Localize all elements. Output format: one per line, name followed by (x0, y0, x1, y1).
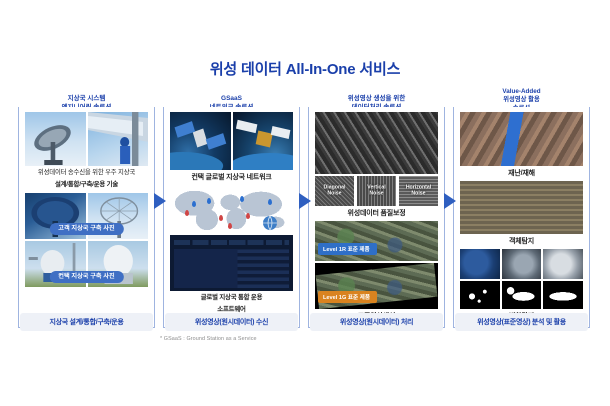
map-pin-3 (207, 198, 211, 204)
panel-2: 컨택 글로벌 지상국 네트워크 (163, 107, 300, 328)
noise-sample-diagonal: Diagonal Noise (315, 176, 354, 206)
columns-container: 지상국 시스템 엔지니어링 솔루션 (14, 88, 596, 328)
noise-label-horizontal-line2: Noise (411, 191, 425, 197)
noise-sample-vertical: Vertical Noise (357, 176, 396, 206)
caption-1-line1: 위성데이터 송수신을 위한 우주 지상국 (25, 168, 148, 178)
image-row-dishes-top (25, 112, 148, 166)
right-arrow-icon (153, 192, 167, 210)
map-pin-8 (228, 223, 232, 229)
bottom-label-wrap-1: 지상국 설계/통합/구축/운용 (14, 312, 159, 332)
map-pin-7 (268, 199, 272, 205)
photo-change-before-3 (543, 249, 583, 279)
column-value-added: Value-Added 위성영상 활용 솔루션 재난/재해 객체탐지 (449, 88, 594, 328)
bottom-labels-row: 지상국 설계/통합/구축/운용 위성영상(원시데이터) 수신 위성영상(원시데이… (14, 312, 596, 332)
bottom-label-wrap-4: 위성영상(표준영상) 분석 및 활용 (449, 312, 594, 332)
caption-2-network: 컨택 글로벌 지상국 네트워크 (170, 172, 293, 183)
photo-satellite-1 (170, 112, 231, 170)
right-arrow-icon (298, 192, 312, 210)
column-header-2-line1: GSaaS (159, 95, 304, 104)
caption-2-software-line1: 글로벌 지상국 통합 운용 (170, 293, 293, 303)
infographic-page: 위성 데이터 All-In-One 서비스 지상국 시스템 엔지니어링 솔루션 (0, 0, 610, 406)
photo-flood-disaster (460, 112, 583, 166)
photo-change-mask-3 (543, 281, 583, 309)
photo-world-map (170, 185, 293, 233)
satellite-gold-icon (233, 112, 294, 170)
bottom-label-2: 위성영상(원시데이터) 수신 (165, 313, 298, 331)
column-header-4-line1: Value-Added (449, 88, 594, 97)
caption-4-object-detection: 객체탐지 (460, 236, 583, 247)
column-ground-station-engineering: 지상국 시스템 엔지니어링 솔루션 (14, 88, 159, 328)
photo-change-mask-1 (460, 281, 500, 309)
overlay-label-customer-station: 고객 지상국 구축 사진 (49, 223, 123, 235)
noise-samples-row: Diagonal Noise Vertical Noise (315, 176, 438, 206)
map-pin-2 (185, 210, 189, 216)
column-gsaas-network: GSaaS 네트워크 솔루션 (159, 88, 304, 328)
bottom-label-1: 지상국 설계/통합/구축/운용 (20, 313, 153, 331)
satellite-icon (170, 112, 231, 170)
photo-change-before-2 (502, 249, 542, 279)
noise-label-diagonal-line2: Noise (327, 191, 341, 197)
image-row-customer-stations: 고객 지상국 구축 사진 (25, 193, 148, 239)
panel-4: 재난/재해 객체탐지 변화탐지 (453, 107, 590, 328)
dish-antenna-icon (25, 112, 86, 166)
bottom-label-wrap-3: 위성영상(원시데이터) 처리 (304, 312, 449, 332)
photo-satellite-2 (233, 112, 294, 170)
overlay-label-contec-station: 컨택 지상국 구축 사진 (49, 271, 123, 283)
bottom-label-4: 위성영상(표준영상) 분석 및 활용 (455, 313, 588, 331)
image-row-satellites (170, 112, 293, 170)
page-title: 위성 데이터 All-In-One 서비스 (0, 58, 610, 79)
technician-icon (88, 112, 149, 166)
footnote-gsaas: * GSaaS : Ground Station as a Service (160, 336, 257, 342)
panel-3: Diagonal Noise Vertical Noise (308, 107, 445, 328)
map-pin-1 (192, 201, 196, 207)
column-header-4-line2: 위성영상 활용 (449, 96, 594, 105)
caption-1-line2: 설계/통합/구축/운용 기술 (25, 180, 148, 190)
noise-label-diagonal-line1: Diagonal (324, 184, 346, 190)
photo-technician-antenna (88, 112, 149, 166)
badge-level-1r: Level 1R 표준 제품 (318, 243, 377, 255)
panel-1: 위성데이터 송수신을 위한 우주 지상국 설계/통합/구축/운용 기술 (18, 107, 155, 328)
caption-3-quality: 위성데이터 품질보정 (315, 208, 438, 219)
photo-level1r-product: Level 1R 표준 제품 (315, 221, 438, 261)
bottom-label-3: 위성영상(원시데이터) 처리 (310, 313, 443, 331)
change-detection-row-bottom (460, 281, 583, 309)
photo-change-mask-2 (502, 281, 542, 309)
arrow-3-to-4 (443, 192, 457, 210)
arrow-1-to-2 (153, 192, 167, 210)
photo-level1g-product: Level 1G 표준 제품 (315, 263, 438, 309)
noise-label-vertical-line1: Vertical (367, 184, 385, 190)
noise-sample-horizontal: Horizontal Noise (399, 176, 438, 206)
badge-level-1g: Level 1G 표준 제품 (318, 291, 377, 303)
photo-object-detection (460, 181, 583, 233)
change-detection-row-top (460, 249, 583, 279)
photo-aerial-grayscale (315, 112, 438, 174)
image-row-contec-stations: 컨택 지상국 구축 사진 (25, 241, 148, 287)
caption-4-disaster: 재난/재해 (460, 168, 583, 179)
globe-icon (262, 215, 278, 231)
arrow-2-to-3 (298, 192, 312, 210)
bottom-label-wrap-2: 위성영상(원시데이터) 수신 (159, 312, 304, 332)
column-data-processing: 위성영상 생성을 위한 데이터처리 솔루션 Diagonal Noise (304, 88, 449, 328)
photo-change-before-1 (460, 249, 500, 279)
noise-label-vertical-line2: Noise (369, 191, 383, 197)
photo-large-dish (25, 112, 86, 166)
right-arrow-icon (443, 192, 457, 210)
noise-label-horizontal-line1: Horizontal (406, 184, 431, 190)
map-pin-6 (246, 213, 250, 219)
column-header-3-line1: 위성영상 생성을 위한 (304, 95, 449, 104)
column-header-1-line1: 지상국 시스템 (14, 95, 159, 104)
map-pin-5 (240, 196, 244, 202)
map-pin-4 (219, 215, 223, 221)
photo-operations-dashboard (170, 235, 293, 291)
